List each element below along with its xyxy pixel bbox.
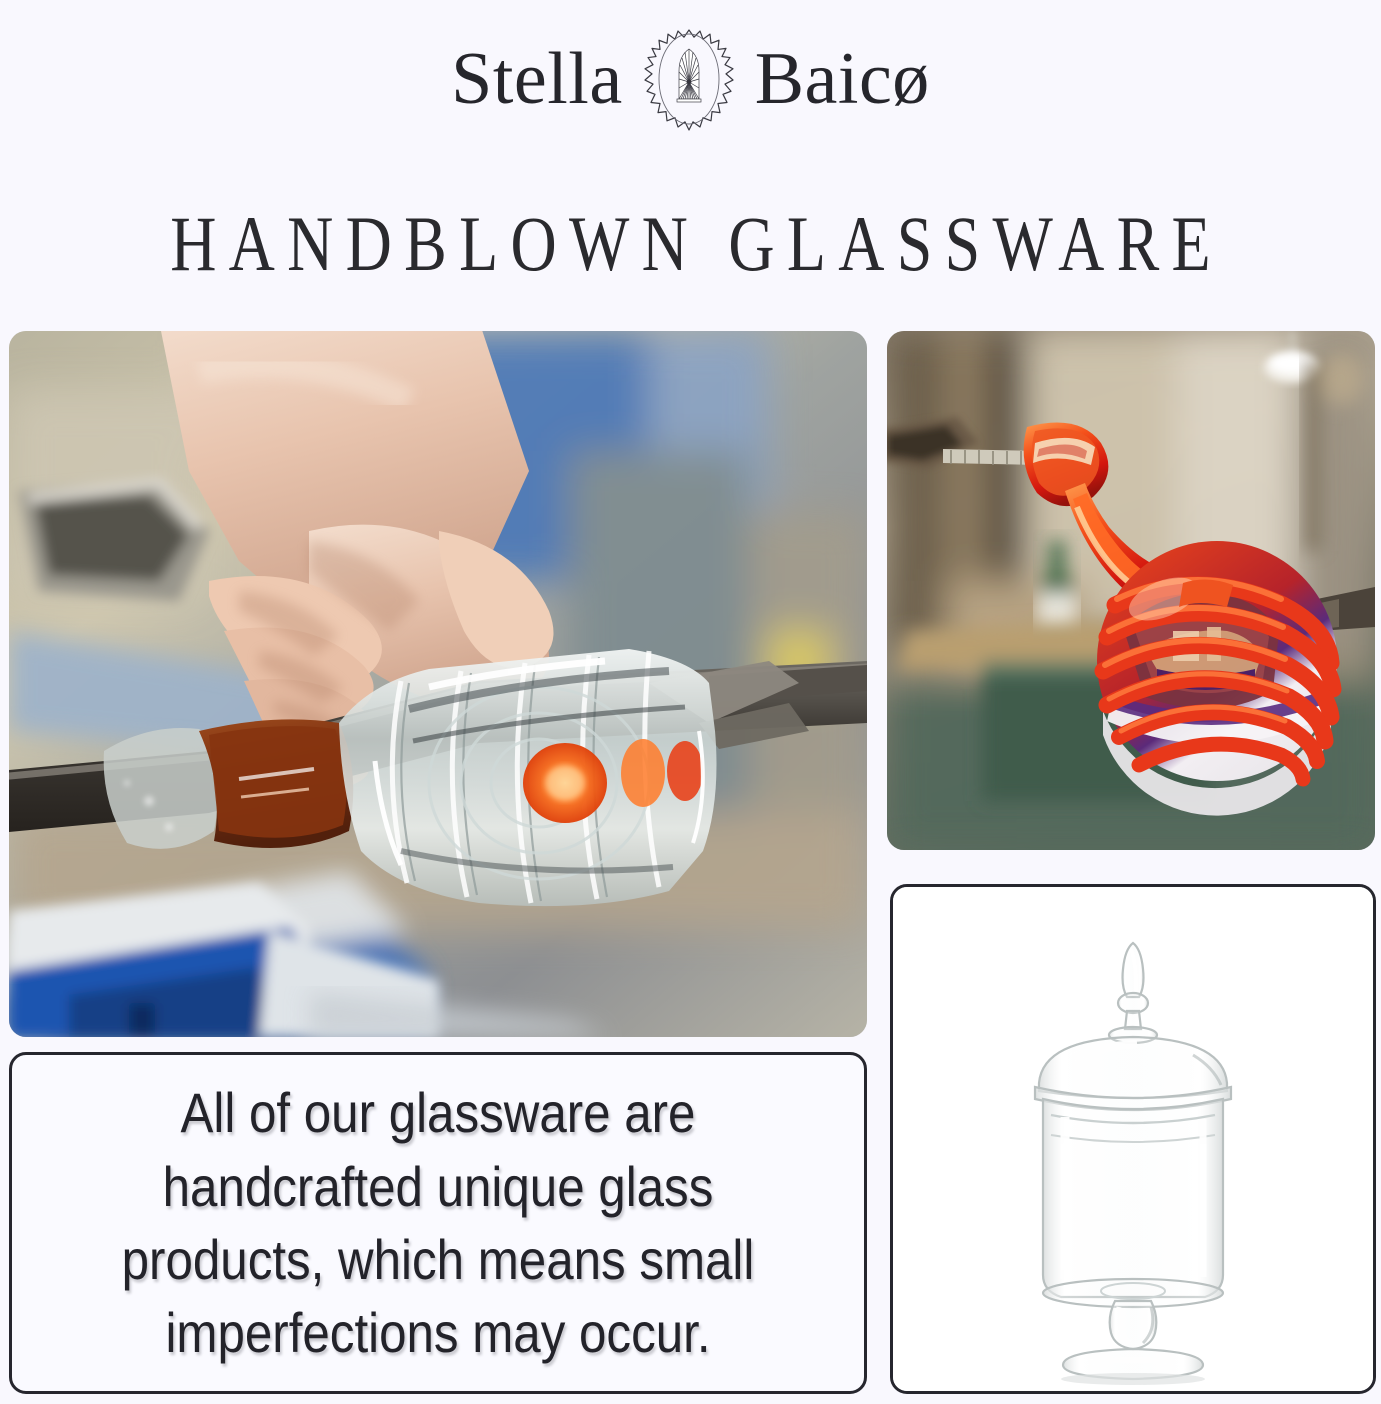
disclaimer-box: All of our glassware are handcrafted uni… [9,1052,867,1394]
disclaimer-text: All of our glassware are handcrafted uni… [63,1076,813,1369]
glassblower-shaping-glass-photo [9,331,867,1037]
infographic-page: Stella [0,0,1381,1404]
sunburst-medallion-icon [641,16,737,142]
molten-glass-trailing-photo [887,331,1375,850]
brand-header: Stella [0,14,1381,144]
brand-word-left: Stella [451,42,623,116]
page-title: HANDBLOWN GLASSWARE [0,196,1381,292]
brand-word-right: Baicø [755,42,930,116]
glass-apothecary-jar-photo [890,884,1376,1394]
page-title-text: HANDBLOWN GLASSWARE [158,205,1223,283]
